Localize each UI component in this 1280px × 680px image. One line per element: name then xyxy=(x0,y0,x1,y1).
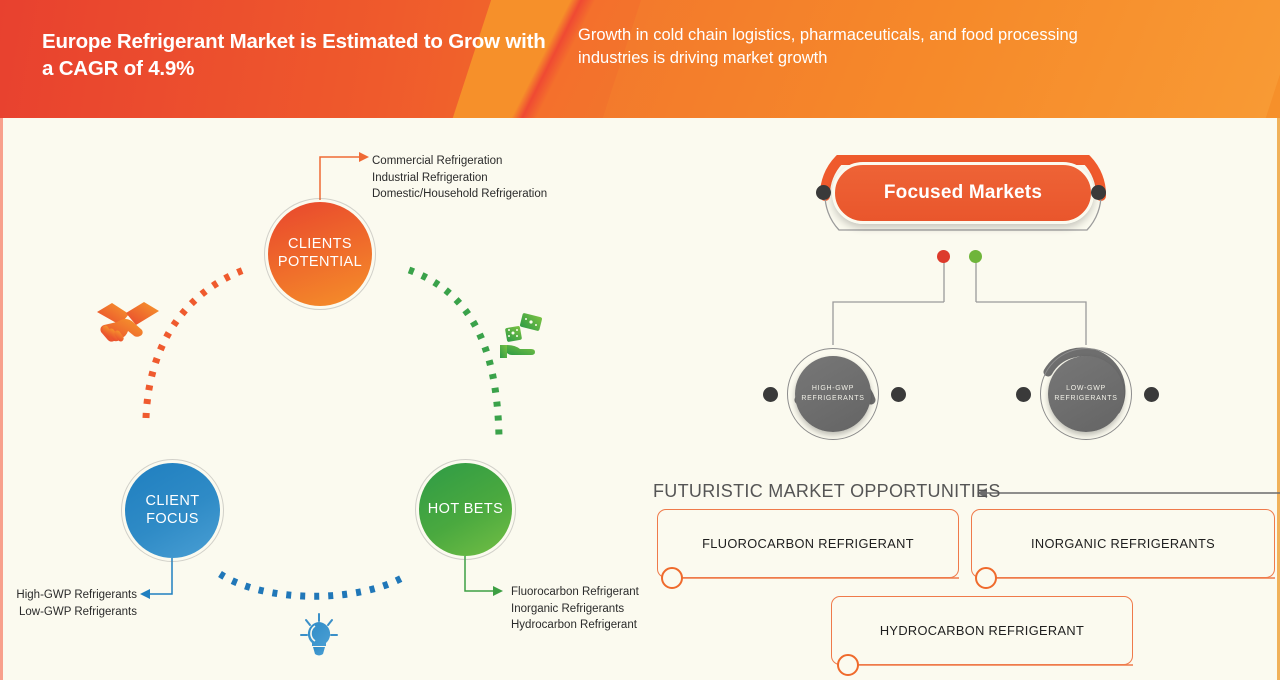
pill-dot-right xyxy=(1091,185,1106,200)
node-dot-left-low xyxy=(1016,387,1031,402)
dot-low-gwp xyxy=(969,250,982,263)
callout-line: Inorganic Refrigerants xyxy=(511,601,639,618)
bubble-label: CLIENTS POTENTIAL xyxy=(268,236,372,271)
handshake-icon xyxy=(95,298,161,349)
callout-line: Fluorocarbon Refrigerant xyxy=(511,584,639,601)
node-dot-left-high xyxy=(763,387,778,402)
page-title: Europe Refrigerant Market is Estimated t… xyxy=(42,28,562,83)
callout-hot-bets: Fluorocarbon Refrigerant Inorganic Refri… xyxy=(511,584,639,634)
callout-clients-potential: Commercial Refrigeration Industrial Refr… xyxy=(372,153,547,203)
lightbulb-icon xyxy=(299,613,339,664)
callout-line: Low-GWP Refrigerants xyxy=(15,604,137,621)
arrow-client-focus xyxy=(140,589,150,599)
futuristic-knob-1 xyxy=(661,567,683,589)
node-dot-right-high xyxy=(891,387,906,402)
focused-markets-button[interactable]: Focused Markets xyxy=(832,162,1094,224)
leader-line-hot-bets xyxy=(465,556,494,591)
futuristic-knob-3 xyxy=(837,654,859,676)
futuristic-box-2[interactable]: INORGANIC REFRIGERANTS xyxy=(971,509,1275,578)
connector-high-gwp xyxy=(833,302,944,345)
dotted-arc-orange xyxy=(146,268,249,418)
futuristic-box-3[interactable]: HYDROCARBON REFRIGERANT xyxy=(831,596,1133,665)
bubble-label: CLIENT FOCUS xyxy=(125,493,220,528)
money-in-hand-icon xyxy=(498,312,544,365)
callout-line: Hydrocarbon Refrigerant xyxy=(511,617,639,634)
futuristic-knob-2 xyxy=(975,567,997,589)
bubble-hot-bets[interactable]: HOT BETS xyxy=(419,463,512,556)
bubble-label: HOT BETS xyxy=(428,501,503,519)
focused-markets-label: Focused Markets xyxy=(884,182,1042,204)
header-subtitle: Growth in cold chain logistics, pharmace… xyxy=(578,24,1138,71)
node-low-gwp[interactable]: LOW-GWP REFRIGERANTS xyxy=(1037,345,1135,443)
node-dot-right-low xyxy=(1144,387,1159,402)
arrow-clients xyxy=(359,152,369,162)
bubble-client-focus[interactable]: CLIENT FOCUS xyxy=(125,463,220,558)
leader-line-clients xyxy=(320,157,360,200)
callout-line: Domestic/Household Refrigeration xyxy=(372,186,547,203)
callout-client-focus: High-GWP Refrigerants Low-GWP Refrigeran… xyxy=(15,587,137,620)
dotted-arc-green xyxy=(409,270,499,437)
node-label: HIGH-GWP REFRIGERANTS xyxy=(795,356,871,432)
connector-low-gwp xyxy=(976,302,1086,345)
node-label: LOW-GWP REFRIGERANTS xyxy=(1048,356,1124,432)
futuristic-section-title: FUTURISTIC MARKET OPPORTUNITIES xyxy=(653,481,1001,502)
futuristic-box-label: HYDROCARBON REFRIGERANT xyxy=(880,623,1084,638)
leader-line-client-focus xyxy=(149,558,172,594)
header-banner: Europe Refrigerant Market is Estimated t… xyxy=(0,0,1280,118)
callout-line: Industrial Refrigeration xyxy=(372,170,547,187)
callout-line: High-GWP Refrigerants xyxy=(15,587,137,604)
pill-dot-left xyxy=(816,185,831,200)
infographic-canvas: Europe Refrigerant Market is Estimated t… xyxy=(0,0,1280,680)
dotted-arc-blue xyxy=(220,574,402,596)
futuristic-box-label: INORGANIC REFRIGERANTS xyxy=(1031,536,1215,551)
callout-line: Commercial Refrigeration xyxy=(372,153,547,170)
futuristic-box-label: FLUOROCARBON REFRIGERANT xyxy=(702,536,914,551)
bubble-clients-potential[interactable]: CLIENTS POTENTIAL xyxy=(268,202,372,306)
node-high-gwp[interactable]: HIGH-GWP REFRIGERANTS xyxy=(784,345,882,443)
arrow-hot-bets xyxy=(493,586,503,596)
dot-high-gwp xyxy=(937,250,950,263)
futuristic-box-1[interactable]: FLUOROCARBON REFRIGERANT xyxy=(657,509,959,578)
